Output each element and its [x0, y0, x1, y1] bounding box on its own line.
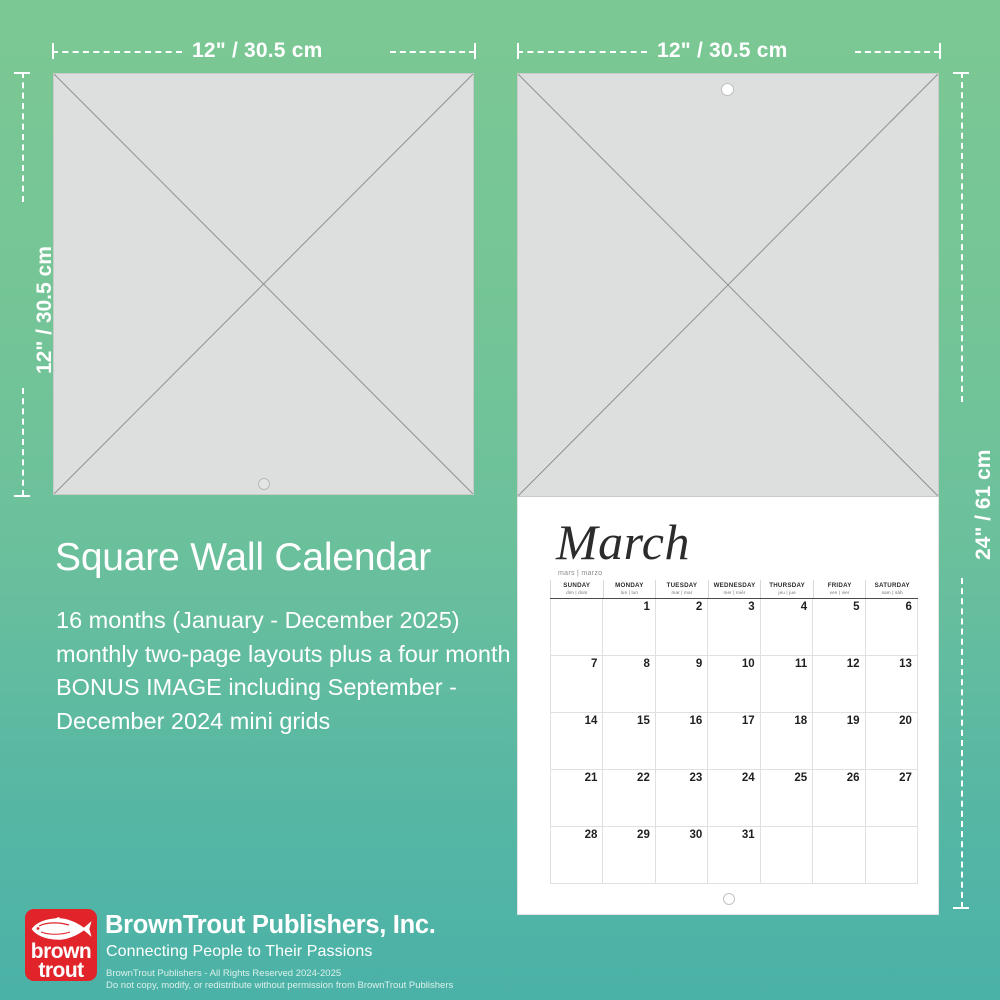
calendar-day-number: 2	[696, 601, 702, 613]
calendar-day-cell[interactable]: 25	[760, 770, 812, 827]
day-header-name: MONDAY	[604, 582, 656, 590]
calendar-month-title: March	[556, 513, 690, 571]
calendar-day-cell[interactable]: 19	[812, 713, 864, 770]
calendar-day-number: 5	[853, 601, 859, 613]
calendar-day-number: 10	[742, 658, 755, 670]
calendar-day-number: 30	[689, 829, 702, 841]
calendar-day-number: 16	[689, 715, 702, 727]
calendar-day-number: 6	[906, 601, 912, 613]
calendar-week-row: 14 15 16 17 18 19 20	[550, 713, 918, 770]
calendar-day-number: 20	[899, 715, 912, 727]
calendar-day-number: 26	[847, 772, 860, 784]
dimension-top-right-label: 12" / 30.5 cm	[657, 39, 787, 63]
calendar-day-cell[interactable]: 12	[812, 656, 864, 713]
calendar-day-cell[interactable]: 30	[655, 827, 707, 884]
calendar-day-cell[interactable]	[760, 827, 812, 884]
calendar-day-number: 21	[585, 772, 598, 784]
dimension-dash-top	[961, 72, 963, 402]
calendar-day-cell[interactable]	[812, 827, 864, 884]
calendar-day-number: 15	[637, 715, 650, 727]
calendar-day-cell[interactable]: 24	[707, 770, 759, 827]
day-header-monday: MONDAY lun | lun	[603, 580, 656, 598]
calendar-day-cell[interactable]: 31	[707, 827, 759, 884]
calendar-day-cell[interactable]: 28	[550, 827, 602, 884]
dimension-cap-right	[474, 43, 476, 59]
publisher-tagline: Connecting People to Their Passions	[106, 943, 372, 961]
calendar-grid-page: March mars | marzo SUNDAY dim | dom MOND…	[517, 497, 939, 915]
calendar-day-number: 1	[643, 601, 649, 613]
calendar-day-header-row: SUNDAY dim | dom MONDAY lun | lun TUESDA…	[550, 580, 918, 599]
calendar-day-cell[interactable]: 26	[812, 770, 864, 827]
calendar-day-cell[interactable]	[550, 599, 602, 656]
calendar-day-number: 18	[794, 715, 807, 727]
day-header-sub: sam | sáb	[866, 590, 918, 596]
dimension-dash-left	[517, 51, 647, 53]
dimension-dash-bottom	[22, 388, 24, 496]
calendar-day-number: 7	[591, 658, 597, 670]
calendar-day-cell[interactable]: 16	[655, 713, 707, 770]
legal-line-1: BrownTrout Publishers - All Rights Reser…	[106, 968, 453, 980]
calendar-day-cell[interactable]: 8	[602, 656, 654, 713]
product-description: 16 months (January - December 2025) mont…	[56, 604, 516, 738]
legal-notice: BrownTrout Publishers - All Rights Reser…	[106, 968, 453, 991]
calendar-week-row: 21 22 23 24 25 26 27	[550, 770, 918, 827]
calendar-day-cell[interactable]: 5	[812, 599, 864, 656]
dimension-dash-top	[22, 72, 24, 202]
dimension-cap-bottom	[14, 495, 30, 497]
calendar-day-cell[interactable]: 3	[707, 599, 759, 656]
day-header-name: SUNDAY	[551, 582, 603, 590]
calendar-image-panel-left	[53, 73, 474, 495]
dimension-right-label: 24" / 61 cm	[972, 450, 996, 560]
calendar-day-cell[interactable]: 20	[865, 713, 918, 770]
day-header-sub: dim | dom	[551, 590, 603, 596]
calendar-day-number: 19	[847, 715, 860, 727]
calendar-day-number: 28	[585, 829, 598, 841]
calendar-day-cell[interactable]: 29	[602, 827, 654, 884]
day-header-thursday: THURSDAY jeu | jue	[760, 580, 813, 598]
calendar-day-number: 4	[801, 601, 807, 613]
day-header-name: SATURDAY	[866, 582, 918, 590]
dimension-dash-right	[390, 51, 475, 53]
calendar-day-number: 12	[847, 658, 860, 670]
calendar-day-cell[interactable]: 17	[707, 713, 759, 770]
day-header-name: WEDNESDAY	[709, 582, 761, 590]
calendar-week-row: 7 8 9 10 11 12 13	[550, 656, 918, 713]
calendar-day-cell[interactable]: 23	[655, 770, 707, 827]
dimension-top-left-label: 12" / 30.5 cm	[192, 39, 322, 63]
dimension-dash-bottom	[961, 578, 963, 908]
day-header-wednesday: WEDNESDAY mer | miér	[708, 580, 761, 598]
placeholder-cross-icon	[54, 74, 473, 494]
day-header-name: THURSDAY	[761, 582, 813, 590]
calendar-day-number: 3	[748, 601, 754, 613]
day-header-name: FRIDAY	[814, 582, 866, 590]
footer: brown trout BrownTrout Publishers, Inc. …	[0, 904, 1000, 1000]
legal-line-2: Do not copy, modify, or redistribute wit…	[106, 980, 453, 992]
day-header-sub: mar | mar	[656, 590, 708, 596]
calendar-day-number: 23	[689, 772, 702, 784]
day-header-saturday: SATURDAY sam | sáb	[865, 580, 918, 598]
calendar-month-subtitle: mars | marzo	[558, 570, 602, 577]
calendar-image-panel-right	[517, 73, 939, 497]
calendar-day-cell[interactable]: 7	[550, 656, 602, 713]
day-header-name: TUESDAY	[656, 582, 708, 590]
day-header-sub: mer | miér	[709, 590, 761, 596]
hanging-hole-left-panel	[258, 478, 270, 490]
dimension-dash-right	[855, 51, 940, 53]
page-title: Square Wall Calendar	[55, 536, 431, 580]
calendar-day-cell[interactable]: 15	[602, 713, 654, 770]
browntrout-logo: brown trout	[25, 909, 97, 981]
calendar-day-number: 11	[795, 658, 807, 670]
day-header-sub: jeu | jue	[761, 590, 813, 596]
calendar-day-cell[interactable]: 21	[550, 770, 602, 827]
hanging-hole-top-right-panel	[721, 83, 734, 96]
calendar-day-number: 13	[899, 658, 912, 670]
calendar-day-number: 25	[794, 772, 807, 784]
calendar-day-cell[interactable]: 9	[655, 656, 707, 713]
day-header-sub: lun | lun	[604, 590, 656, 596]
calendar-grid: SUNDAY dim | dom MONDAY lun | lun TUESDA…	[550, 580, 918, 884]
day-header-tuesday: TUESDAY mar | mar	[655, 580, 708, 598]
calendar-day-number: 22	[637, 772, 650, 784]
calendar-day-number: 27	[899, 772, 912, 784]
day-header-sunday: SUNDAY dim | dom	[550, 580, 603, 598]
calendar-day-cell[interactable]: 13	[865, 656, 918, 713]
calendar-day-cell[interactable]: 14	[550, 713, 602, 770]
product-infographic: 12" / 30.5 cm 12" / 30.5 cm 12" / 30.5 c…	[0, 0, 1000, 1000]
day-header-friday: FRIDAY ven | vier	[813, 580, 866, 598]
calendar-day-number: 8	[643, 658, 649, 670]
calendar-day-number: 9	[696, 658, 702, 670]
calendar-day-cell[interactable]: 1	[602, 599, 654, 656]
placeholder-cross-icon	[518, 74, 938, 496]
dimension-cap-right	[939, 43, 941, 59]
calendar-day-number: 24	[742, 772, 755, 784]
calendar-day-cell[interactable]: 22	[602, 770, 654, 827]
calendar-day-number: 31	[742, 829, 755, 841]
calendar-day-number: 29	[637, 829, 650, 841]
calendar-day-cell[interactable]	[865, 827, 918, 884]
calendar-day-cell[interactable]: 2	[655, 599, 707, 656]
calendar-day-cell[interactable]: 10	[707, 656, 759, 713]
logo-word-trout: trout	[25, 961, 97, 980]
calendar-week-row: 1 2 3 4 5 6	[550, 599, 918, 656]
calendar-day-number: 17	[742, 715, 755, 727]
calendar-week-row: 28 29 30 31	[550, 827, 918, 884]
calendar-day-cell[interactable]: 4	[760, 599, 812, 656]
calendar-day-number: 14	[585, 715, 598, 727]
trout-fish-icon	[29, 913, 93, 943]
dimension-dash-left	[52, 51, 182, 53]
day-header-sub: ven | vier	[814, 590, 866, 596]
calendar-day-cell[interactable]: 6	[865, 599, 918, 656]
publisher-name: BrownTrout Publishers, Inc.	[105, 911, 436, 940]
calendar-day-cell[interactable]: 27	[865, 770, 918, 827]
calendar-day-cell[interactable]: 11	[760, 656, 812, 713]
calendar-day-cell[interactable]: 18	[760, 713, 812, 770]
